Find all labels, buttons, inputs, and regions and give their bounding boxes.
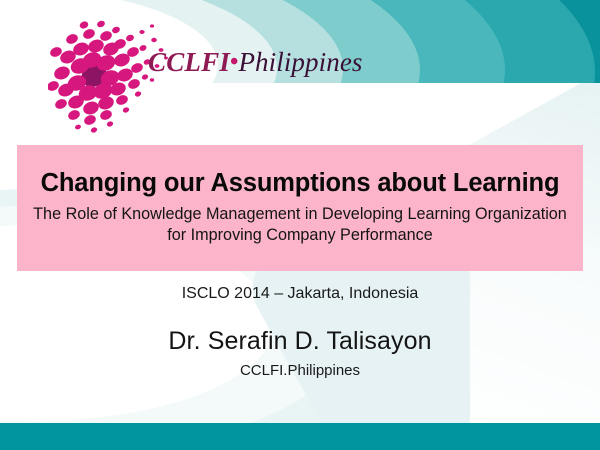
cclfi-logo <box>48 18 188 138</box>
brand-name-separator-dot: • <box>230 49 238 75</box>
cclfi-radial-dots-logo-icon <box>48 18 188 138</box>
brand-wordmark: CCLFI•Philippines <box>148 49 363 76</box>
speaker-name: Dr. Serafin D. Talisayon <box>0 327 600 356</box>
brand-name-primary: CCLFI <box>148 47 230 77</box>
event-line: ISCLO 2014 – Jakarta, Indonesia <box>0 285 600 303</box>
footer-teal-bar <box>0 423 600 450</box>
brand-name-secondary: Philippines <box>238 47 362 77</box>
presentation-title-slide: CCLFI•Philippines Changing our Assumptio… <box>0 0 600 450</box>
slide-subtitle: The Role of Knowledge Management in Deve… <box>30 204 570 247</box>
title-banner: Changing our Assumptions about Learning … <box>17 145 583 271</box>
slide-title: Changing our Assumptions about Learning <box>41 169 560 198</box>
speaker-organization: CCLFI.Philippines <box>0 362 600 379</box>
